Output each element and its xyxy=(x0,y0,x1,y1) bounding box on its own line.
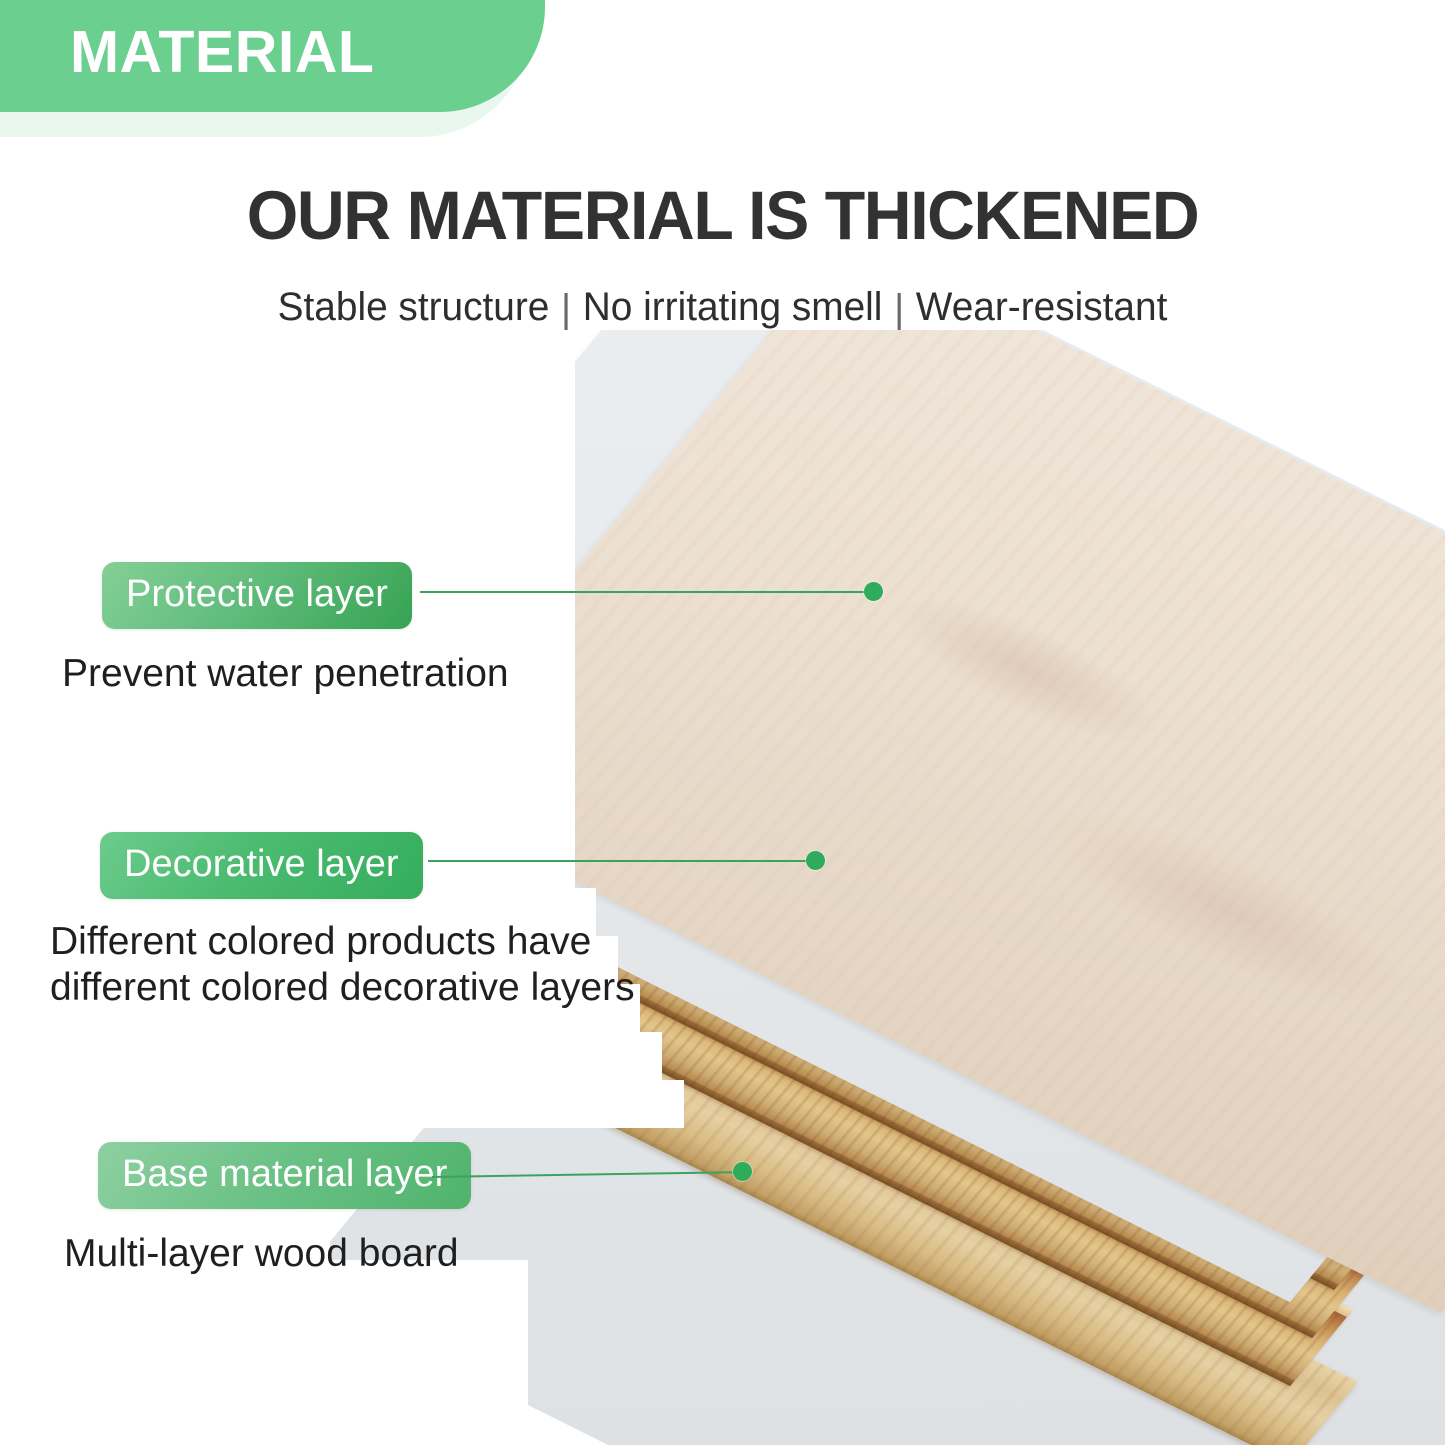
leader-dot-base-material-layer xyxy=(733,1162,752,1181)
feature-separator-2: | xyxy=(882,287,915,332)
feature-list: Stable structure|No irritating smell|Wea… xyxy=(22,285,1424,330)
leader-line-protective-layer xyxy=(420,591,875,593)
leader-dot-decorative-layer xyxy=(806,851,825,870)
stage-mask-step-4 xyxy=(0,1032,662,1082)
leader-line-decorative-layer xyxy=(428,860,818,862)
callout-decorative-layer: Decorative layer Different colored produ… xyxy=(100,832,590,1011)
stage-mask-bottom-notch xyxy=(328,1260,528,1445)
material-infographic-page: MATERIAL OUR MATERIAL IS THICKENED Stabl… xyxy=(0,0,1445,1445)
feature-item-3: Wear-resistant xyxy=(916,285,1168,329)
feature-item-1: Stable structure xyxy=(278,285,550,329)
callout-caption-base-material-layer: Multi-layer wood board xyxy=(64,1231,471,1277)
page-title: OUR MATERIAL IS THICKENED xyxy=(29,176,1416,255)
callout-pill-base-material-layer[interactable]: Base material layer xyxy=(98,1142,471,1209)
callout-caption-decorative-layer-line1: Different colored products have xyxy=(50,919,590,965)
callout-base-material-layer: Base material layer Multi-layer wood boa… xyxy=(98,1142,471,1277)
callout-caption-protective-layer: Prevent water penetration xyxy=(62,651,509,697)
stage-mask-step-5 xyxy=(0,1080,684,1128)
callout-pill-protective-layer[interactable]: Protective layer xyxy=(102,562,412,629)
feature-separator-1: | xyxy=(549,287,582,332)
banner-label: MATERIAL xyxy=(70,18,374,86)
feature-item-2: No irritating smell xyxy=(583,285,883,329)
leader-dot-protective-layer xyxy=(864,582,883,601)
callout-protective-layer: Protective layer Prevent water penetrati… xyxy=(102,562,509,697)
callout-caption-decorative-layer-line2: different colored decorative layers xyxy=(50,965,590,1011)
callout-pill-decorative-layer[interactable]: Decorative layer xyxy=(100,832,423,899)
